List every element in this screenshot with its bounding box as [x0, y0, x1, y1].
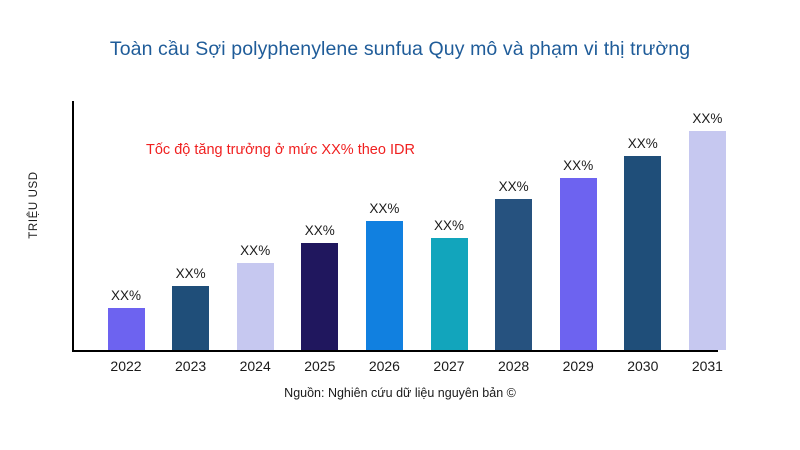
- bar-2024: XX%: [237, 263, 274, 350]
- x-tick-label-2022: 2022: [96, 358, 156, 374]
- bar-rect-2026: [366, 221, 403, 350]
- bar-value-label-2029: XX%: [563, 158, 593, 173]
- bar-rect-2027: [431, 238, 468, 350]
- x-tick-label-2031: 2031: [677, 358, 737, 374]
- bar-2025: XX%: [301, 243, 338, 350]
- bar-value-label-2022: XX%: [111, 288, 141, 303]
- bar-value-label-2028: XX%: [499, 179, 529, 194]
- bar-2027: XX%: [431, 238, 468, 350]
- bar-2029: XX%: [560, 178, 597, 350]
- bar-rect-2023: [172, 286, 209, 350]
- bar-rect-2030: [624, 156, 661, 350]
- x-tick-label-2030: 2030: [613, 358, 673, 374]
- bar-value-label-2026: XX%: [369, 201, 399, 216]
- x-tick-label-2024: 2024: [225, 358, 285, 374]
- bar-2022: XX%: [108, 308, 145, 350]
- x-tick-label-2026: 2026: [354, 358, 414, 374]
- bar-value-label-2030: XX%: [628, 136, 658, 151]
- x-tick-label-2029: 2029: [548, 358, 608, 374]
- bar-rect-2028: [495, 199, 532, 350]
- bar-value-label-2025: XX%: [305, 223, 335, 238]
- bar-rect-2031: [689, 131, 726, 350]
- bar-2030: XX%: [624, 156, 661, 350]
- bar-2031: XX%: [689, 131, 726, 350]
- x-tick-label-2025: 2025: [290, 358, 350, 374]
- chart-container: Toàn cầu Sợi polyphenylene sunfua Quy mô…: [0, 0, 800, 450]
- bar-value-label-2024: XX%: [240, 243, 270, 258]
- x-tick-label-2027: 2027: [419, 358, 479, 374]
- bar-2028: XX%: [495, 199, 532, 350]
- x-tick-label-2023: 2023: [161, 358, 221, 374]
- plot-area: XX%2022XX%2023XX%2024XX%2025XX%2026XX%20…: [0, 0, 800, 450]
- bar-rect-2025: [301, 243, 338, 350]
- bar-value-label-2027: XX%: [434, 218, 464, 233]
- bar-2023: XX%: [172, 286, 209, 350]
- bar-value-label-2023: XX%: [176, 266, 206, 281]
- source-note: Nguồn: Nghiên cứu dữ liệu nguyên bản ©: [0, 386, 800, 400]
- bar-rect-2024: [237, 263, 274, 350]
- bar-rect-2029: [560, 178, 597, 350]
- bar-value-label-2031: XX%: [692, 111, 722, 126]
- bar-rect-2022: [108, 308, 145, 350]
- cagr-annotation: Tốc độ tăng trưởng ở mức XX% theo IDR: [146, 142, 415, 158]
- x-tick-label-2028: 2028: [484, 358, 544, 374]
- bar-2026: XX%: [366, 221, 403, 350]
